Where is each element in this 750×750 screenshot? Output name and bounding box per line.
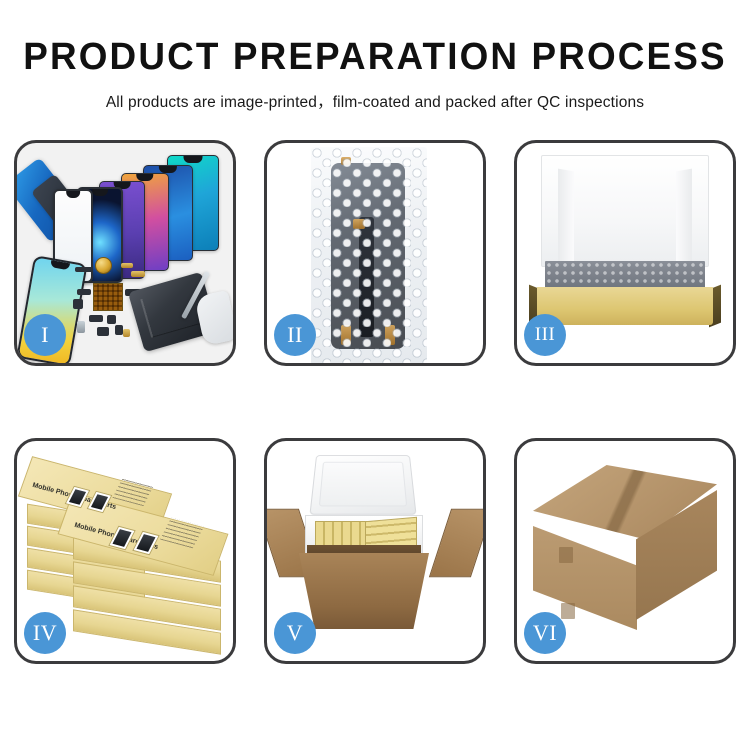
step-panel-4[interactable]: Mobile Phone Spare Parts Mobile Phone Sp…	[14, 438, 236, 664]
notch-icon	[50, 260, 70, 270]
box-tray-graphic	[537, 287, 713, 325]
step-6-illustration: VI	[517, 441, 733, 661]
step-badge-1: I	[24, 314, 66, 356]
step-3-illustration: III	[517, 143, 733, 363]
notch-icon	[184, 156, 203, 163]
hand-graphic	[194, 290, 233, 346]
box-lid-graphic	[541, 155, 709, 267]
lid-flap-left	[558, 169, 574, 268]
component-part	[107, 315, 116, 324]
notch-icon	[66, 191, 80, 198]
component-part	[73, 299, 83, 309]
step-panel-2[interactable]: II	[264, 140, 486, 366]
notch-icon	[92, 189, 108, 196]
carton-tape-patch	[561, 603, 575, 619]
step-panel-1[interactable]: I	[14, 140, 236, 366]
step-1-illustration: I	[17, 143, 233, 363]
foam-cooler-lid-graphic	[309, 455, 416, 515]
product-preparation-process-infographic: PRODUCT PREPARATION PROCESS All products…	[0, 0, 750, 750]
component-part	[115, 325, 123, 335]
header: PRODUCT PREPARATION PROCESS All products…	[0, 38, 750, 112]
step-4-illustration: Mobile Phone Spare Parts Mobile Phone Sp…	[17, 441, 233, 661]
step-badge-5: V	[274, 612, 316, 654]
notch-icon	[159, 166, 177, 173]
component-part	[121, 263, 133, 268]
component-part	[123, 329, 130, 337]
component-part	[131, 271, 145, 277]
page-title: PRODUCT PREPARATION PROCESS	[11, 38, 739, 78]
page-subtitle: All products are image-printed，film-coat…	[0, 90, 750, 112]
process-steps-grid: I II	[14, 140, 736, 700]
carton-body-graphic	[299, 553, 429, 629]
component-part	[89, 315, 103, 322]
logic-board-chip-graphic	[93, 283, 123, 311]
step-badge-4: IV	[24, 612, 66, 654]
notch-icon	[136, 174, 153, 181]
step-badge-3: III	[524, 314, 566, 356]
step-panel-5[interactable]: V	[264, 438, 486, 664]
step-5-illustration: V	[267, 441, 483, 661]
component-part	[97, 327, 109, 336]
step-panel-3[interactable]: III	[514, 140, 736, 366]
carton-flap-right	[429, 509, 483, 577]
component-part	[77, 289, 91, 295]
component-part	[77, 321, 85, 333]
lid-flap-right	[676, 169, 692, 268]
step-panel-6[interactable]: VI	[514, 438, 736, 664]
camera-ring-icon	[95, 257, 112, 274]
step-2-illustration: II	[267, 143, 483, 363]
bubble-texture	[311, 147, 427, 363]
step-badge-6: VI	[524, 612, 566, 654]
carton-tape-patch	[559, 547, 573, 563]
step-badge-2: II	[274, 314, 316, 356]
bubble-wrap-bag-graphic	[311, 147, 427, 363]
component-part	[75, 267, 93, 272]
